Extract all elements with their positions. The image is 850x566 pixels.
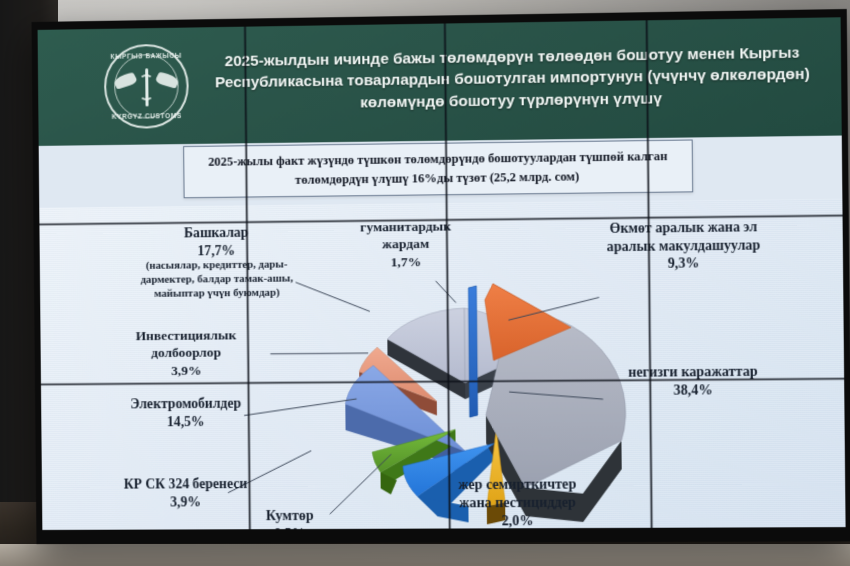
label-fertilizers-value: 2,0% — [442, 512, 594, 530]
label-agreements: Өкмөт аралык жана эл аралык макулдашуула… — [597, 218, 771, 274]
label-fixed-assets: негизги каражаттар 38,4% — [608, 362, 778, 400]
label-article324: КР СК 324 беренеси 3,9% — [120, 475, 251, 511]
label-bashkalar-name: Башкалар — [136, 223, 297, 242]
emblem-bottom-text: KYRGYZ CUSTOMS — [100, 113, 193, 121]
kyrgyz-customs-emblem-icon: КЫРГЫЗ БАЖЫСЫ KYRGYZ CUSTOMS — [100, 40, 193, 134]
label-kumtor-name: Кумтөр — [241, 507, 338, 525]
label-article324-value: 3,9% — [120, 493, 251, 511]
label-ev-name: Электромобилдер — [107, 394, 264, 413]
emblem-snake-icon — [139, 74, 153, 100]
subtitle-box: 2025-жылы факт жүзүндө түшкөн төлөмдөрүн… — [183, 139, 693, 198]
label-bashkalar-detail: (насыялар, кредиттер, дары-дармектер, ба… — [136, 259, 298, 302]
label-humanitarian: гуманитардык жардам 1,7% — [341, 217, 470, 271]
label-bashkalar: Башкалар 17,7% (насыялар, кредиттер, дар… — [136, 223, 298, 302]
emblem-top-text: КЫРГЫЗ БАЖЫСЫ — [100, 53, 193, 61]
floor-strip — [0, 544, 850, 566]
subtitle-container: 2025-жылы факт жүзүндө түшкөн төлөмдөрүн… — [39, 138, 843, 201]
label-fixed-assets-name: негизги каражаттар — [608, 362, 777, 381]
label-article324-name: КР СК 324 беренеси — [120, 475, 251, 493]
label-fixed-assets-value: 38,4% — [609, 381, 778, 400]
label-ev-value: 14,5% — [107, 412, 264, 431]
slide-title: 2025-жылдын ичинде бажы төлөмдөрүн төлөө… — [192, 42, 841, 120]
label-fertilizers-name: жер семирткичтер жана пестициддер — [442, 475, 594, 512]
slide-header: КЫРГЫЗ БАЖЫСЫ KYRGYZ CUSTOMS 2025-жылдын… — [38, 17, 842, 146]
label-fertilizers: жер семирткичтер жана пестициддер 2,0% — [442, 475, 594, 530]
label-agreements-value: 9,3% — [597, 254, 770, 274]
label-investment-value: 3,9% — [111, 361, 262, 380]
label-humanitarian-value: 1,7% — [342, 252, 470, 271]
chart-labels: Башкалар 17,7% (насыялар, кредиттер, дар… — [39, 199, 845, 530]
label-bashkalar-value: 17,7% — [136, 241, 297, 260]
label-kumtor-value: 8,5% — [241, 525, 338, 530]
label-ev: Электромобилдер 14,5% — [107, 394, 264, 430]
video-wall: КЫРГЫЗ БАЖЫСЫ KYRGYZ CUSTOMS 2025-жылдын… — [31, 9, 850, 544]
label-humanitarian-name: гуманитардык жардам — [341, 217, 470, 254]
label-kumtor: Кумтөр 8,5% — [241, 507, 338, 530]
display-bezel: КЫРГЫЗ БАЖЫСЫ KYRGYZ CUSTOMS 2025-жылдын… — [31, 9, 850, 544]
label-investment-name: Инвестициялык долбоорлор — [111, 326, 262, 362]
presentation-slide: КЫРГЫЗ БАЖЫСЫ KYRGYZ CUSTOMS 2025-жылдын… — [38, 17, 846, 530]
label-investment: Инвестициялык долбоорлор 3,9% — [111, 326, 263, 380]
chart-area: Башкалар 17,7% (насыялар, кредиттер, дар… — [39, 199, 845, 530]
label-agreements-name: Өкмөт аралык жана эл аралык макулдашуула… — [597, 218, 771, 256]
